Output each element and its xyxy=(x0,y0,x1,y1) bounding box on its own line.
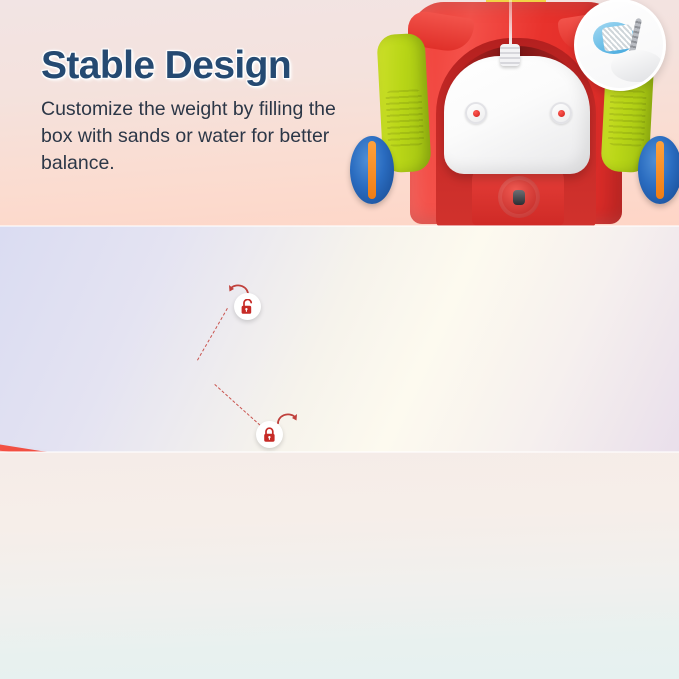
box-fastener-right xyxy=(550,102,572,124)
panel-adjustable-height: Adjustable Height Change the height of t… xyxy=(0,452,679,679)
fill-port-callout-inset xyxy=(574,0,666,91)
wheel-right xyxy=(638,136,679,204)
unlock-badge xyxy=(234,293,261,320)
unlock-icon xyxy=(240,299,255,315)
fill-funnel-icon xyxy=(611,50,663,82)
fork-ribs-left xyxy=(385,89,424,147)
red-seat xyxy=(0,438,116,452)
panel-divider-1 xyxy=(0,225,679,227)
lock-icon xyxy=(262,427,277,443)
fill-port-cap xyxy=(500,44,520,66)
fork-ribs-right xyxy=(608,89,647,147)
walker-front-image xyxy=(352,0,679,226)
stable-design-description: Customize the weight by filling the box … xyxy=(41,96,341,177)
infographic-sheet: Stable Design Customize the weight by fi… xyxy=(0,0,679,679)
box-fastener-left xyxy=(465,102,487,124)
panel-divider-2 xyxy=(0,451,679,453)
housing-screw-icon xyxy=(513,190,525,205)
lock-badge xyxy=(256,421,283,448)
panel-speed-control: Speed Control 2-levels adjustable wheel … xyxy=(0,226,679,452)
wheel-left xyxy=(350,136,394,204)
rotate-right-arrow-icon xyxy=(276,412,298,426)
stable-design-text-block: Stable Design Customize the weight by fi… xyxy=(41,43,341,177)
panel-stable-design: Stable Design Customize the weight by fi… xyxy=(0,0,679,226)
page-title-stable-design: Stable Design xyxy=(41,43,341,88)
hanging-strap xyxy=(509,0,512,46)
